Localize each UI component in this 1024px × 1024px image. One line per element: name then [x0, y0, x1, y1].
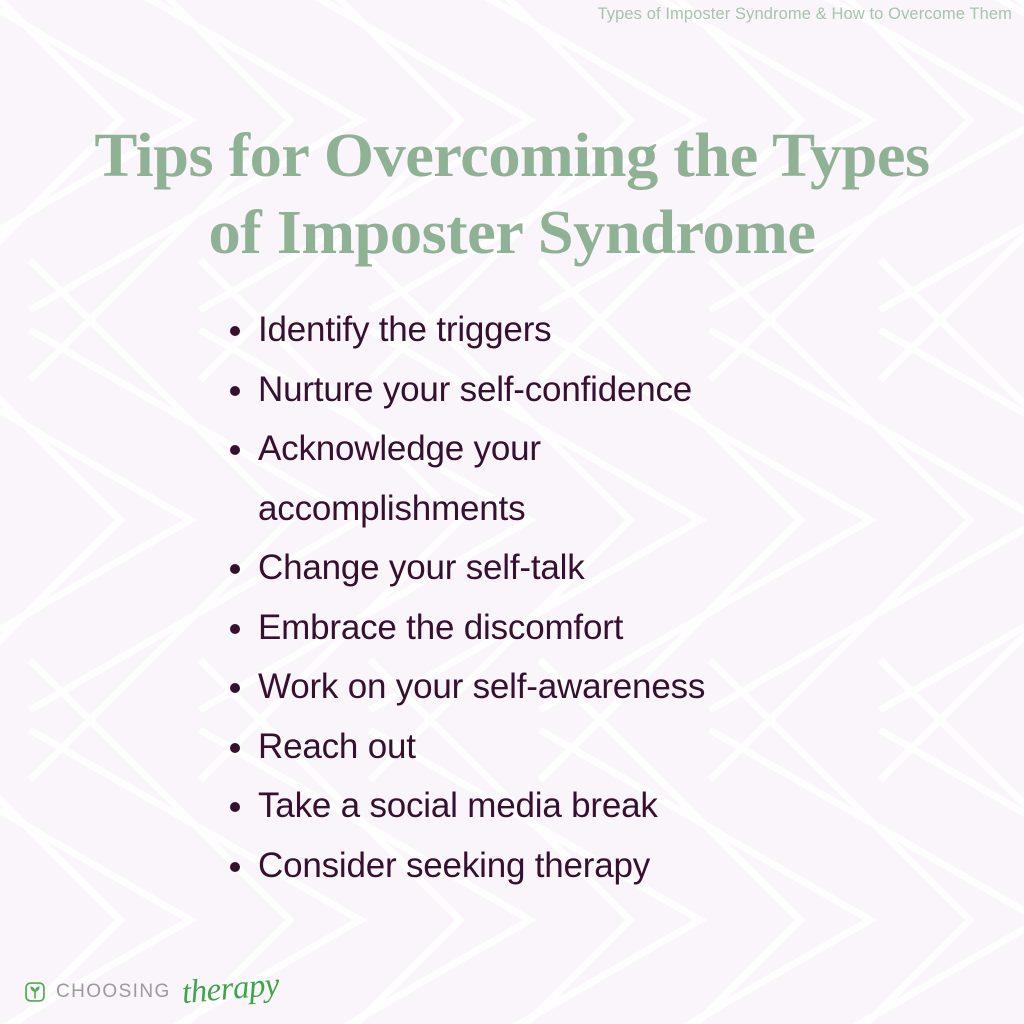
list-item-label: Reach out: [258, 727, 416, 766]
bullet-dot-icon: [230, 862, 240, 872]
bullet-dot-icon: [230, 564, 240, 574]
list-item: Reach out: [224, 717, 964, 777]
list-item-label: Consider seeking therapy: [258, 846, 650, 885]
bullet-dot-icon: [230, 326, 240, 336]
page-title: Tips for Overcoming the Types of Imposte…: [0, 118, 1024, 272]
list-item-label: Acknowledge your accomplishments: [258, 429, 541, 528]
infographic-card: Types of Imposter Syndrome & How to Over…: [0, 0, 1024, 1024]
list-item-label: Embrace the discomfort: [258, 608, 623, 647]
bullet-dot-icon: [230, 743, 240, 753]
bullet-dot-icon: [230, 445, 240, 455]
article-eyebrow-title: Types of Imposter Syndrome & How to Over…: [598, 5, 1013, 24]
list-item: Acknowledge your accomplishments: [224, 419, 638, 538]
list-item-label: Change your self-talk: [258, 548, 585, 587]
tips-list: Identify the triggers Nurture your self-…: [224, 300, 964, 895]
bullet-dot-icon: [230, 624, 240, 634]
bullet-dot-icon: [230, 386, 240, 396]
list-item: Take a social media break: [224, 776, 964, 836]
list-item: Nurture your self-confidence: [224, 360, 964, 420]
page-title-line-2: of Imposter Syndrome: [0, 195, 1024, 272]
page-title-line-1: Tips for Overcoming the Types: [0, 118, 1024, 195]
list-item: Identify the triggers: [224, 300, 964, 360]
list-item: Work on your self-awareness: [224, 657, 964, 717]
list-item-label: Identify the triggers: [258, 310, 551, 349]
list-item: Embrace the discomfort: [224, 598, 964, 658]
brand-logo[interactable]: CHOOSING therapy: [22, 975, 279, 1008]
logo-text-choosing: CHOOSING: [56, 982, 171, 1002]
list-item-label: Nurture your self-confidence: [258, 370, 692, 409]
list-item-label: Take a social media break: [258, 786, 658, 825]
bullet-dot-icon: [230, 683, 240, 693]
list-item: Change your self-talk: [224, 538, 964, 598]
list-item: Consider seeking therapy: [224, 836, 964, 896]
list-item-label: Work on your self-awareness: [258, 667, 705, 706]
bullet-dot-icon: [230, 802, 240, 812]
leaf-logo-icon: [22, 979, 48, 1005]
logo-text-therapy: therapy: [177, 969, 280, 1011]
